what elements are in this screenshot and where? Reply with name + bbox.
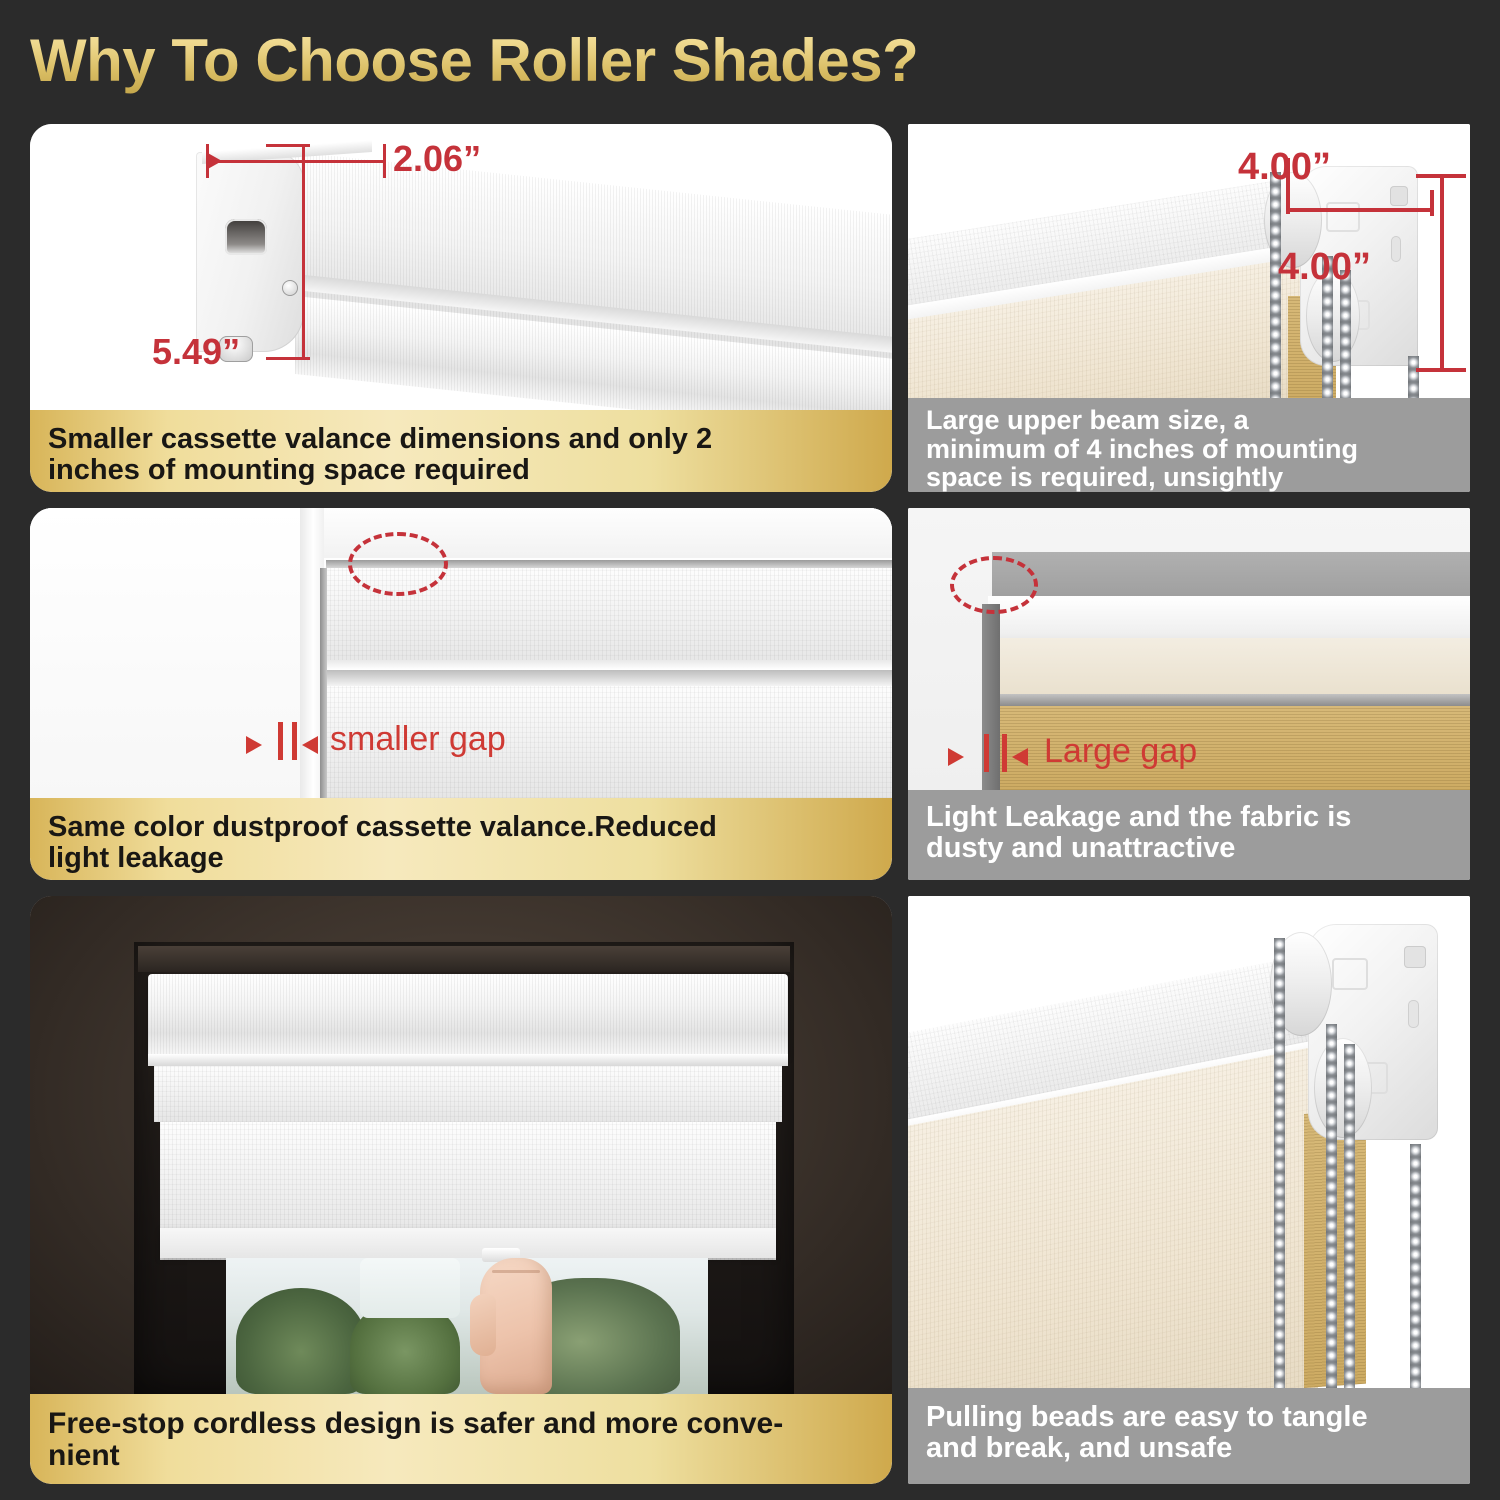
beam-dim-width-tick-right <box>1430 190 1434 216</box>
cordless-upper-fabric <box>154 1066 782 1122</box>
gap-arrow-right <box>1012 748 1028 766</box>
gap-label: Large gap <box>1044 732 1197 771</box>
roller-tube-end-lower <box>1314 1038 1372 1138</box>
panel-bad-gap[interactable]: Large gap Light Leakage and the fabric i… <box>908 508 1470 880</box>
fabric-band-cream <box>988 638 1470 698</box>
cordless-valance-lip <box>148 1054 788 1066</box>
dim-width-label: 2.06” <box>393 138 481 180</box>
caption-line-1: Pulling beads are easy to tangle <box>926 1402 1452 1433</box>
bead-chain-4 <box>1408 356 1419 398</box>
cordless-valance <box>148 974 788 1056</box>
dim-height-tick-bottom <box>266 357 310 360</box>
bead-chain-2 <box>1326 1024 1337 1388</box>
shade-left-edge-gap <box>320 568 327 798</box>
caption-line-3: space is required, unsightly <box>926 463 1452 492</box>
bead-chain-4 <box>1410 1144 1421 1388</box>
beam-dim-height-tick-bottom <box>1416 368 1466 372</box>
cordless-bottom-rail <box>160 1228 776 1258</box>
bracket-notch-top <box>1404 946 1426 968</box>
panel-good-gap[interactable]: smaller gap Same color dustproof cassett… <box>30 508 892 880</box>
highlight-ellipse <box>348 532 448 596</box>
panel-good-cassette[interactable]: 2.06” 5.49” Smaller cassette valance dim… <box>30 124 892 492</box>
valance-under-rail <box>326 670 892 686</box>
dim-height-tick-top <box>266 144 310 147</box>
beam-dim-width-line <box>1286 208 1434 212</box>
bracket-icon-upper <box>1326 202 1360 232</box>
caption-line-2: dusty and unattractive <box>926 833 1452 864</box>
cordless-main-fabric <box>160 1122 776 1240</box>
gap-tick-a <box>278 722 283 760</box>
caption-line-2: and break, and unsafe <box>926 1433 1452 1464</box>
gap-arrow-left <box>246 736 262 754</box>
hand-thumb <box>470 1294 496 1356</box>
panel-bad-beam-photo: 4.00” 4.00” <box>908 124 1470 398</box>
bracket-icon-upper <box>1332 958 1368 990</box>
panel-good-cassette-photo: 2.06” 5.49” <box>30 124 892 410</box>
panel-bad-beads-photo <box>908 896 1470 1388</box>
bottom-rail <box>988 694 1470 706</box>
page-title: Why To Choose Roller Shades? <box>30 16 1470 106</box>
caption-line-2: minimum of 4 inches of mounting <box>926 435 1452 464</box>
dim-width-line <box>206 160 386 163</box>
window-sky <box>360 1258 460 1318</box>
hand-finger-crease <box>492 1270 540 1273</box>
gap-label: smaller gap <box>330 720 506 759</box>
gap-tick-b <box>1002 734 1007 772</box>
dim-height-label: 5.49” <box>152 331 240 373</box>
gap-tick-b <box>292 722 297 760</box>
bracket-notch-top <box>1390 186 1408 206</box>
panel-good-cordless[interactable]: Free-stop cordless design is safer and m… <box>30 896 892 1484</box>
panel-good-cassette-caption: Smaller cassette valance dimensions and … <box>30 410 892 492</box>
panel-bad-gap-caption: Light Leakage and the fabric is dusty an… <box>908 790 1470 880</box>
panel-good-cordless-photo <box>30 896 892 1394</box>
infographic-root: Why To Choose Roller Shades? <box>0 0 1500 1500</box>
bead-chain-1 <box>1274 938 1285 1388</box>
beam-dim-height-label: 4.00” <box>1278 246 1371 289</box>
gap-arrow-right <box>302 736 318 754</box>
caption-line-2: light leakage <box>48 843 874 874</box>
panel-bad-gap-photo: Large gap <box>908 508 1470 790</box>
caption-line-1: Large upper beam size, a <box>926 406 1452 435</box>
beam-dim-height-tick-top <box>1416 174 1466 178</box>
page-title-wrap: Why To Choose Roller Shades? <box>30 16 1470 106</box>
dim-width-arrow-right <box>206 152 222 170</box>
panel-good-gap-caption: Same color dustproof cassette valance.Re… <box>30 798 892 880</box>
panel-good-gap-photo: smaller gap <box>30 508 892 798</box>
panel-bad-beads[interactable]: Pulling beads are easy to tangle and bre… <box>908 896 1470 1484</box>
cassette-clutch-slot <box>225 219 267 255</box>
comparison-grid: 2.06” 5.49” Smaller cassette valance dim… <box>0 108 1500 1500</box>
bead-chain-3 <box>1340 270 1351 398</box>
beam-dim-height-line <box>1440 174 1444 372</box>
panel-bad-beam[interactable]: 4.00” 4.00” Large upper beam size, a min… <box>908 124 1470 492</box>
caption-line-2: inches of mounting space required <box>48 455 874 486</box>
window-recess-head <box>138 946 790 972</box>
dim-width-tick-right <box>383 144 386 178</box>
cassette-screw-upper <box>282 280 298 296</box>
panel-good-cordless-caption: Free-stop cordless design is safer and m… <box>30 1394 892 1484</box>
caption-line-1: Smaller cassette valance dimensions and … <box>48 424 874 455</box>
panel-bad-beam-caption: Large upper beam size, a minimum of 4 in… <box>908 398 1470 492</box>
highlight-ellipse <box>950 556 1038 614</box>
caption-line-1: Same color dustproof cassette valance.Re… <box>48 812 874 843</box>
caption-line-2: nient <box>48 1440 874 1472</box>
panel-bad-beads-caption: Pulling beads are easy to tangle and bre… <box>908 1388 1470 1484</box>
tree-left <box>236 1288 366 1394</box>
gap-tick-a <box>984 734 989 772</box>
bead-chain-3 <box>1344 1044 1355 1388</box>
dim-height-line <box>302 144 305 360</box>
valance-lip-shadow <box>326 660 892 670</box>
caption-line-1: Light Leakage and the fabric is <box>926 802 1452 833</box>
bracket-notch-mid <box>1391 236 1401 262</box>
beam-dim-width-label: 4.00” <box>1238 146 1331 189</box>
caption-line-1: Free-stop cordless design is safer and m… <box>48 1408 874 1440</box>
gap-arrow-left <box>948 748 964 766</box>
bracket-notch-mid <box>1408 1000 1419 1028</box>
